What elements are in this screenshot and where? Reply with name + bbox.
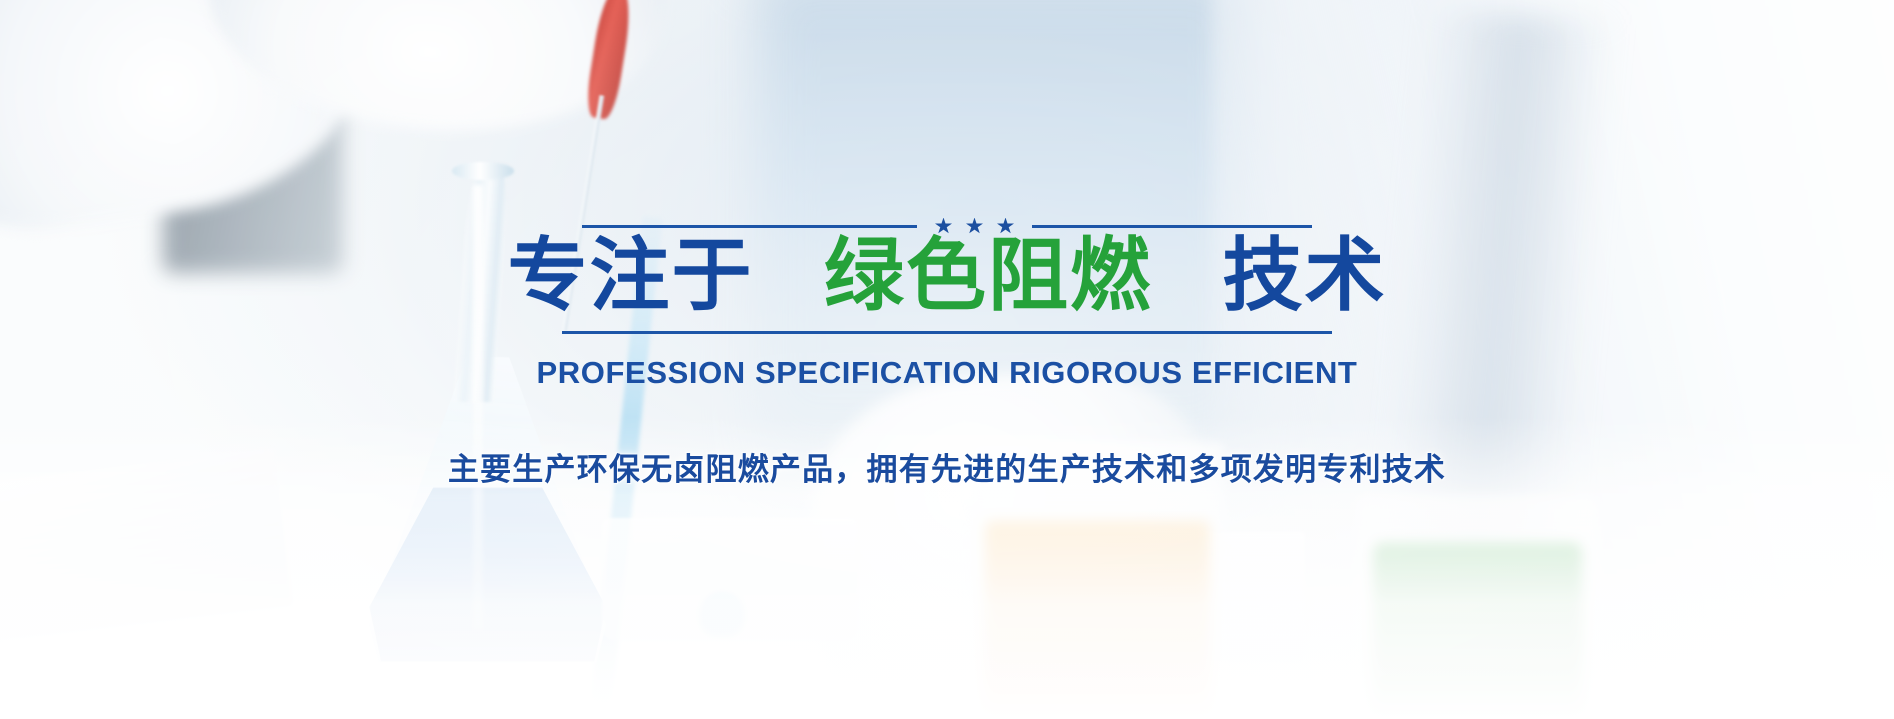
headline-part-3: 技术 — [1222, 231, 1386, 320]
banner-tagline-chinese: 主要生产环保无卤阻燃产品，拥有先进的生产技术和多项发明专利技术 — [448, 444, 1446, 489]
headline-underline — [562, 331, 1332, 334]
divider-line-left — [582, 225, 917, 228]
banner-content: 专注于 绿色阻燃 技术 PROFESSION SPECIFICATION RIG… — [0, 0, 1894, 719]
headline-part-1: 专注于 — [508, 231, 754, 320]
banner-headline: 专注于 绿色阻燃 技术 — [508, 236, 1387, 316]
divider-line-right — [1032, 225, 1312, 228]
hero-banner: 专注于 绿色阻燃 技术 PROFESSION SPECIFICATION RIG… — [0, 0, 1894, 719]
headline-part-2: 绿色阻燃 — [824, 231, 1152, 320]
banner-subtitle-english: PROFESSION SPECIFICATION RIGOROUS EFFICI… — [537, 355, 1358, 391]
